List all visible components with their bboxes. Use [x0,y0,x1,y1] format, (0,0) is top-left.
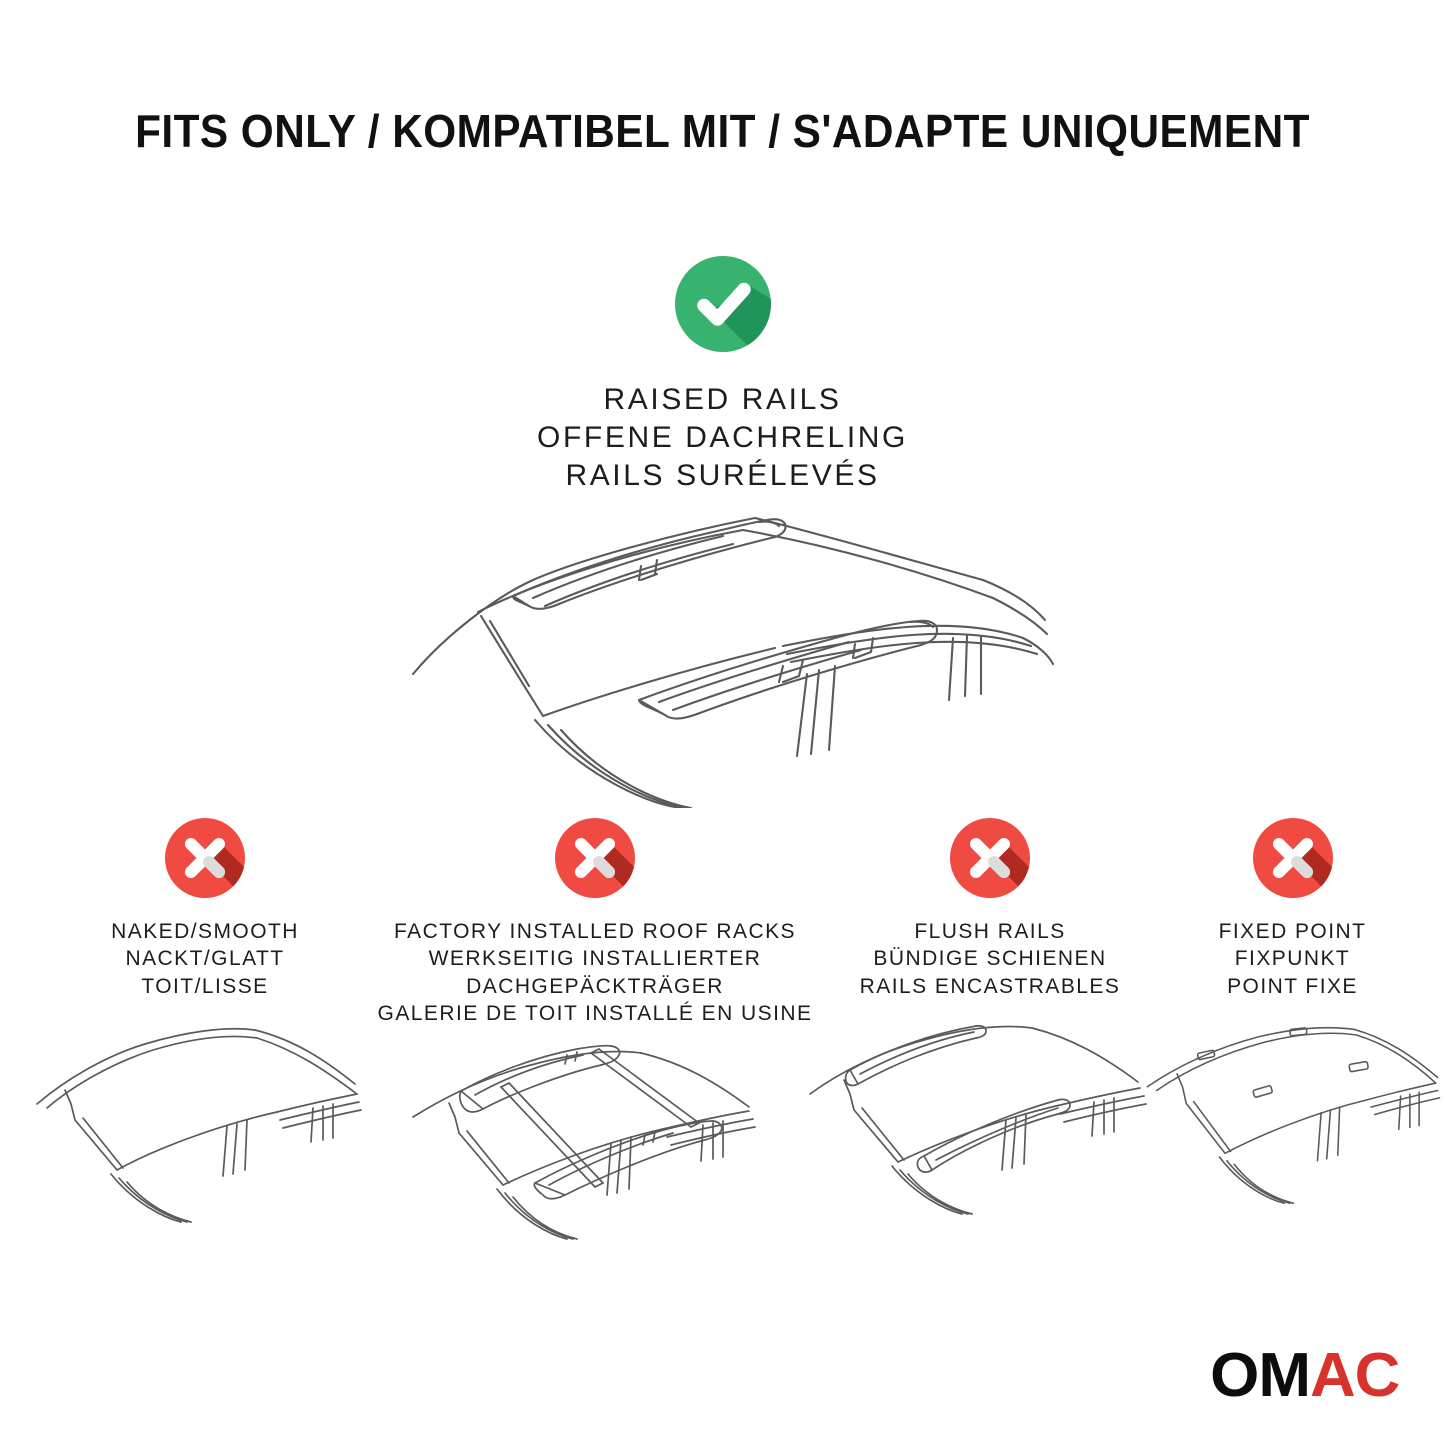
x-circle-icon [549,812,641,904]
incompatible-labels-naked: NAKED/SMOOTH NACKT/GLATT TOIT/LISSE [25,918,385,1000]
brand-logo-om: OM [1210,1341,1310,1410]
label-line-fr: GALERIE DE TOIT INSTALLÉ EN USINE [350,1000,840,1027]
x-circle-icon [1247,812,1339,904]
incompatible-item-naked-smooth: NAKED/SMOOTH NACKT/GLATT TOIT/LISSE [25,812,385,1233]
label-line-fr: RAILS ENCASTRABLES [790,973,1190,1000]
incompatible-labels-fixed-point: FIXED POINT FIXPUNKT POINT FIXE [1140,918,1445,1000]
label-line-en: FIXED POINT [1140,918,1445,945]
car-roof-raised-rails-illustration [383,488,1063,808]
label-line-en: FACTORY INSTALLED ROOF RACKS [350,918,840,945]
label-line-fr: POINT FIXE [1140,973,1445,1000]
label-line-de: BÜNDIGE SCHIENEN [790,945,1190,972]
car-roof-fixed-point-illustration [1140,1008,1445,1233]
incompatible-section: NAKED/SMOOTH NACKT/GLATT TOIT/LISSE [0,812,1445,1272]
compatible-section: RAISED RAILS OFFENE DACHRELING RAILS SUR… [0,248,1445,495]
x-circle-icon [944,812,1036,904]
label-line-de-1: WERKSEITIG INSTALLIERTER [350,945,840,972]
car-roof-factory-rack-illustration [350,1035,840,1260]
compatible-label-de: OFFENE DACHRELING [0,419,1445,457]
check-circle-icon [667,248,779,360]
label-line-de: NACKT/GLATT [25,945,385,972]
compatible-label-en: RAISED RAILS [0,381,1445,419]
incompatible-labels-flush: FLUSH RAILS BÜNDIGE SCHIENEN RAILS ENCAS… [790,918,1190,1000]
label-line-fr: TOIT/LISSE [25,973,385,1000]
label-line-en: NAKED/SMOOTH [25,918,385,945]
label-line-en: FLUSH RAILS [790,918,1190,945]
car-roof-flush-rails-illustration [790,1008,1190,1233]
incompatible-item-flush-rails: FLUSH RAILS BÜNDIGE SCHIENEN RAILS ENCAS… [790,812,1190,1233]
incompatible-item-factory-roof-racks: FACTORY INSTALLED ROOF RACKS WERKSEITIG … [350,812,840,1260]
page-title: FITS ONLY / KOMPATIBEL MIT / S'ADAPTE UN… [58,104,1387,158]
incompatible-item-fixed-point: FIXED POINT FIXPUNKT POINT FIXE [1140,812,1445,1233]
fitment-infographic: FITS ONLY / KOMPATIBEL MIT / S'ADAPTE UN… [0,0,1445,1445]
compatible-labels: RAISED RAILS OFFENE DACHRELING RAILS SUR… [0,381,1445,495]
x-circle-icon [159,812,251,904]
brand-logo: OMAC [1210,1345,1399,1407]
incompatible-labels-factory: FACTORY INSTALLED ROOF RACKS WERKSEITIG … [350,918,840,1027]
brand-logo-ac: AC [1310,1341,1399,1410]
label-line-de-2: DACHGEPÄCKTRÄGER [350,973,840,1000]
label-line-de: FIXPUNKT [1140,945,1445,972]
car-roof-naked-illustration [25,1008,385,1233]
